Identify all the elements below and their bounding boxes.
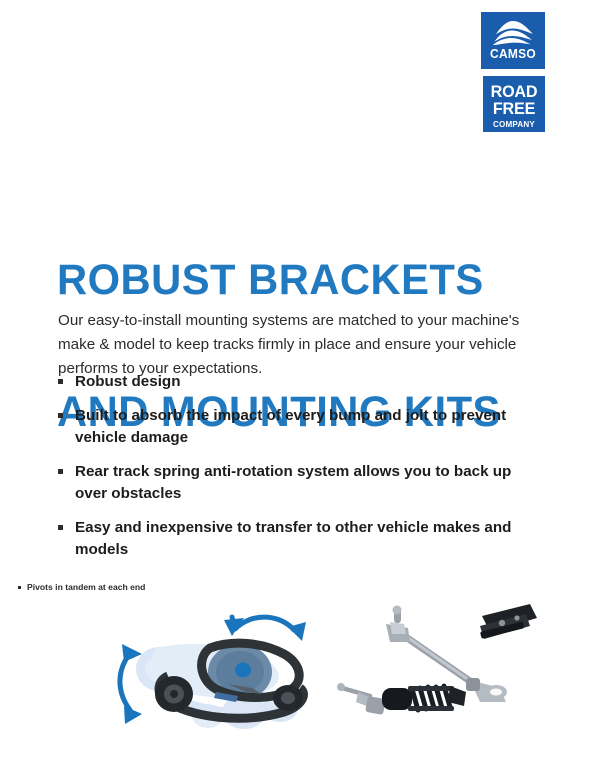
road-free-line-1: ROAD xyxy=(485,83,544,100)
road-free-company-logo-box: ROAD FREE COMPANY xyxy=(483,76,545,132)
square-bullet-icon xyxy=(58,413,63,418)
camso-chevron-mark xyxy=(492,20,534,45)
mounting-hardware-photo xyxy=(330,596,540,728)
mounting-bracket xyxy=(480,604,537,639)
list-item: Easy and inexpensive to transfer to othe… xyxy=(58,517,528,561)
footnote-bullet-icon xyxy=(18,586,21,589)
square-bullet-icon xyxy=(58,525,63,530)
rubber-track-system-diagram xyxy=(112,596,332,734)
anti-rotation-spring xyxy=(337,683,466,715)
footnote-label: Pivots in tandem at each end xyxy=(27,581,145,593)
square-bullet-icon xyxy=(58,469,63,474)
brand-logo-stack: CAMSO ROAD FREE COMPANY xyxy=(481,12,545,132)
list-item-label: Robust design xyxy=(75,371,180,393)
footnote: Pivots in tandem at each end xyxy=(18,581,145,593)
road-free-line-2: FREE xyxy=(485,100,544,117)
feature-list: Robust design Built to absorb the impact… xyxy=(58,371,528,573)
road-free-lines: ROAD FREE COMPANY xyxy=(483,83,545,128)
list-item-label: Easy and inexpensive to transfer to othe… xyxy=(75,517,528,561)
pivot-arrow-left-head-bottom xyxy=(124,706,142,724)
page-title-line-1: ROBUST BRACKETS xyxy=(57,258,501,302)
list-item-label: Built to absorb the impact of every bump… xyxy=(75,405,528,449)
road-free-line-3: COMPANY xyxy=(485,120,544,129)
camso-wordmark: CAMSO xyxy=(484,46,543,61)
list-item: Rear track spring anti-rotation system a… xyxy=(58,461,528,505)
illustration-area xyxy=(0,596,600,736)
list-item: Robust design xyxy=(58,371,528,393)
list-item-label: Rear track spring anti-rotation system a… xyxy=(75,461,528,505)
camso-logo-box: CAMSO xyxy=(481,12,545,69)
square-bullet-icon xyxy=(58,379,63,384)
list-item: Built to absorb the impact of every bump… xyxy=(58,405,528,449)
pivot-arrow-left xyxy=(120,656,130,710)
